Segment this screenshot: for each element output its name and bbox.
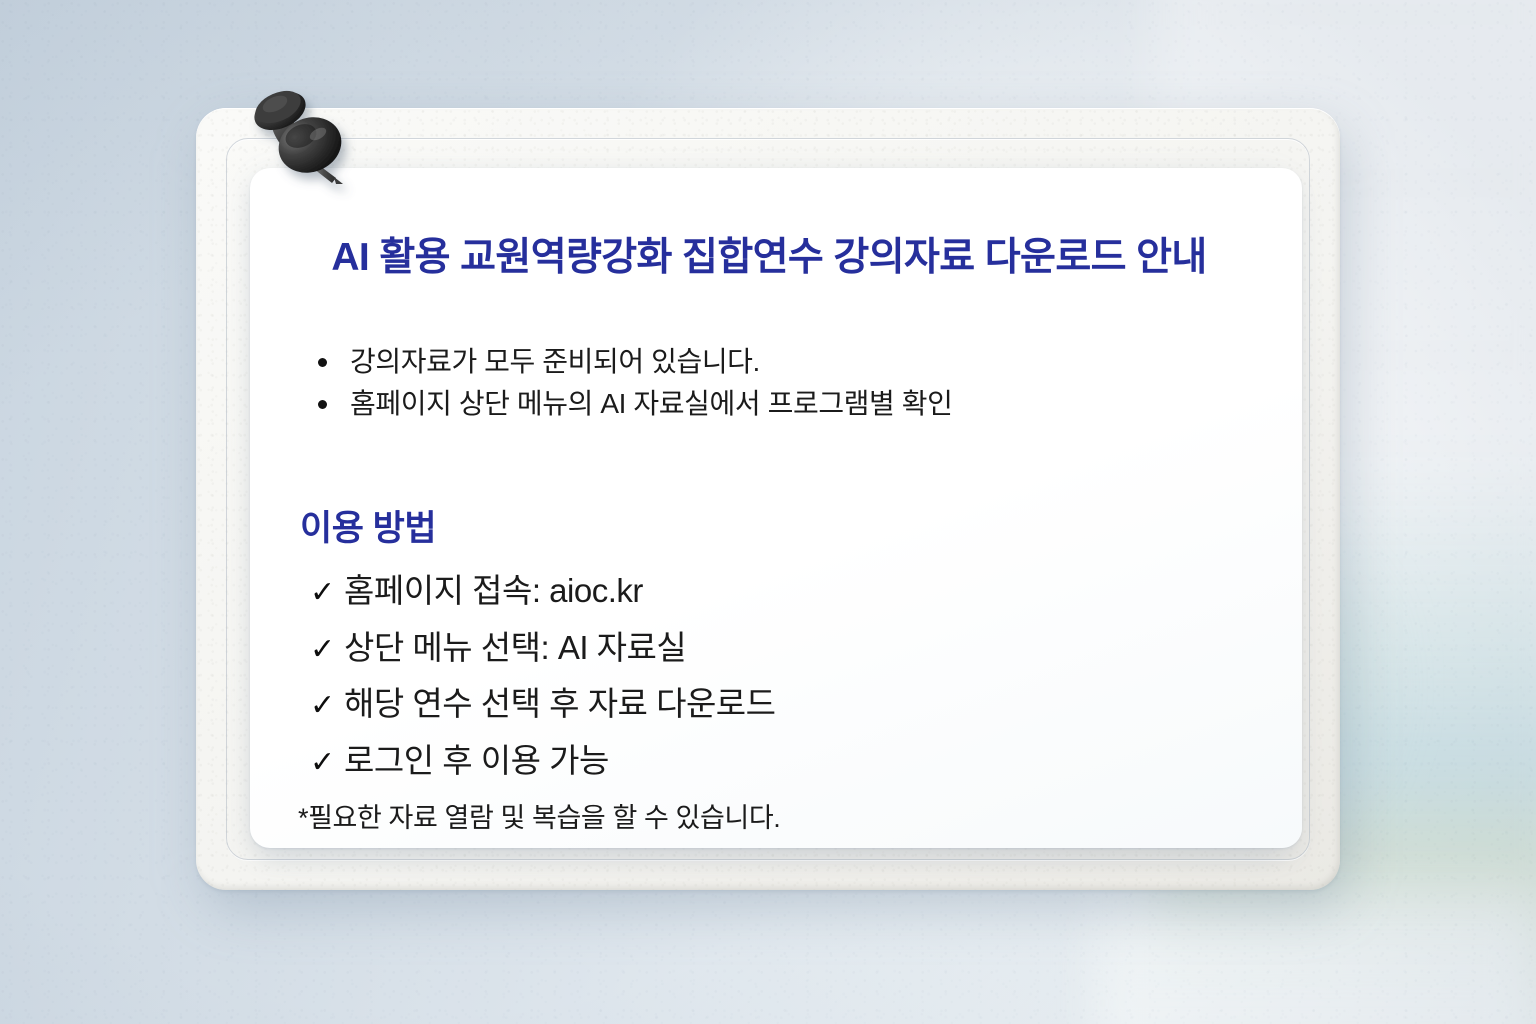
list-item: ✓ 상단 메뉴 선택: AI 자료실 bbox=[310, 620, 1258, 677]
section-heading-usage: 이용 방법 bbox=[300, 500, 1258, 551]
usage-steps-list: ✓ 홈페이지 접속: aioc.kr ✓ 상단 메뉴 선택: AI 자료실 ✓ … bbox=[280, 563, 1258, 790]
bullet-text: 홈페이지 상단 메뉴의 AI 자료실에서 프로그램별 확인 bbox=[350, 388, 953, 419]
list-item: ✓ 해당 연수 선택 후 자료 다운로드 bbox=[310, 676, 1258, 733]
footnote-text: *필요한 자료 열람 및 복습을 할 수 있습니다. bbox=[298, 796, 1258, 835]
step-text: 로그인 후 이용 가능 bbox=[344, 733, 609, 790]
list-item: 강의자료가 모두 준비되어 있습니다. bbox=[316, 341, 1258, 384]
list-item: ✓ 로그인 후 이용 가능 bbox=[310, 733, 1258, 790]
step-text: 홈페이지 접속: aioc.kr bbox=[344, 563, 643, 620]
list-item: 홈페이지 상단 메뉴의 AI 자료실에서 프로그램별 확인 bbox=[316, 383, 1258, 426]
check-icon: ✓ bbox=[310, 567, 344, 619]
intro-bullet-list: 강의자료가 모두 준비되어 있습니다. 홈페이지 상단 메뉴의 AI 자료실에서… bbox=[280, 341, 1258, 426]
check-icon: ✓ bbox=[310, 680, 344, 732]
check-icon: ✓ bbox=[310, 737, 344, 789]
step-text: 해당 연수 선택 후 자료 다운로드 bbox=[344, 676, 776, 733]
scene: AI 활용 교원역량강화 집합연수 강의자료 다운로드 안내 강의자료가 모두 … bbox=[0, 0, 1536, 1024]
bullet-dot-icon bbox=[318, 358, 327, 367]
bullet-dot-icon bbox=[318, 400, 327, 409]
page-title: AI 활용 교원역량강화 집합연수 강의자료 다운로드 안내 bbox=[280, 234, 1258, 283]
pushpin-icon bbox=[248, 86, 360, 204]
list-item: ✓ 홈페이지 접속: aioc.kr bbox=[310, 563, 1258, 620]
bullet-text: 강의자료가 모두 준비되어 있습니다. bbox=[350, 346, 760, 377]
notice-content: AI 활용 교원역량강화 집합연수 강의자료 다운로드 안내 강의자료가 모두 … bbox=[250, 168, 1302, 848]
notice-paper: AI 활용 교원역량강화 집합연수 강의자료 다운로드 안내 강의자료가 모두 … bbox=[250, 168, 1302, 848]
check-icon: ✓ bbox=[310, 624, 344, 676]
step-text: 상단 메뉴 선택: AI 자료실 bbox=[344, 620, 686, 677]
